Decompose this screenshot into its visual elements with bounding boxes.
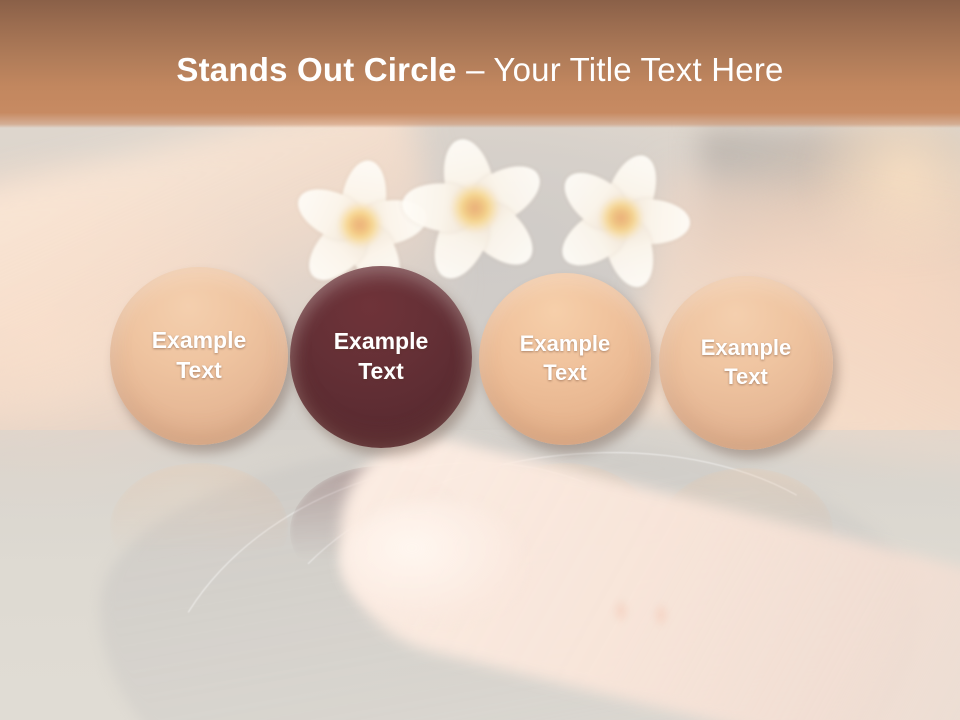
frangipani-flower-center [405,138,545,278]
flower-stamen [606,203,635,232]
circle-4-label-line1: Example [701,334,792,363]
slide-canvas: Stands Out Circle – Your Title Text Here… [0,0,960,720]
circle-1-reflection [110,463,288,591]
frangipani-flower-right [555,152,687,284]
circle-2[interactable]: ExampleText [290,266,472,448]
lower-highlight-dot-1 [612,598,630,624]
page-title: Stands Out Circle – Your Title Text Here [0,52,960,88]
lower-highlight-dot-2 [652,602,670,628]
circle-4-label-line2: Text [724,363,768,392]
circle-1[interactable]: ExampleText [110,267,288,445]
circle-1-label-line1: Example [152,326,247,356]
circle-3-label-line2: Text [543,359,587,388]
title-light-part: Your Title Text Here [485,51,784,88]
circle-2-label-line1: Example [334,327,429,357]
lower-hand [340,500,520,620]
circle-4[interactable]: ExampleText [659,276,833,450]
title-separator: – [466,51,485,88]
circle-3-label-line1: Example [520,330,611,359]
circle-2-label-line2: Text [358,357,404,387]
header-band: Stands Out Circle – Your Title Text Here [0,0,960,128]
circle-1-label-line2: Text [176,356,222,386]
title-bold-part: Stands Out Circle [176,51,466,88]
circle-3[interactable]: ExampleText [479,273,651,445]
